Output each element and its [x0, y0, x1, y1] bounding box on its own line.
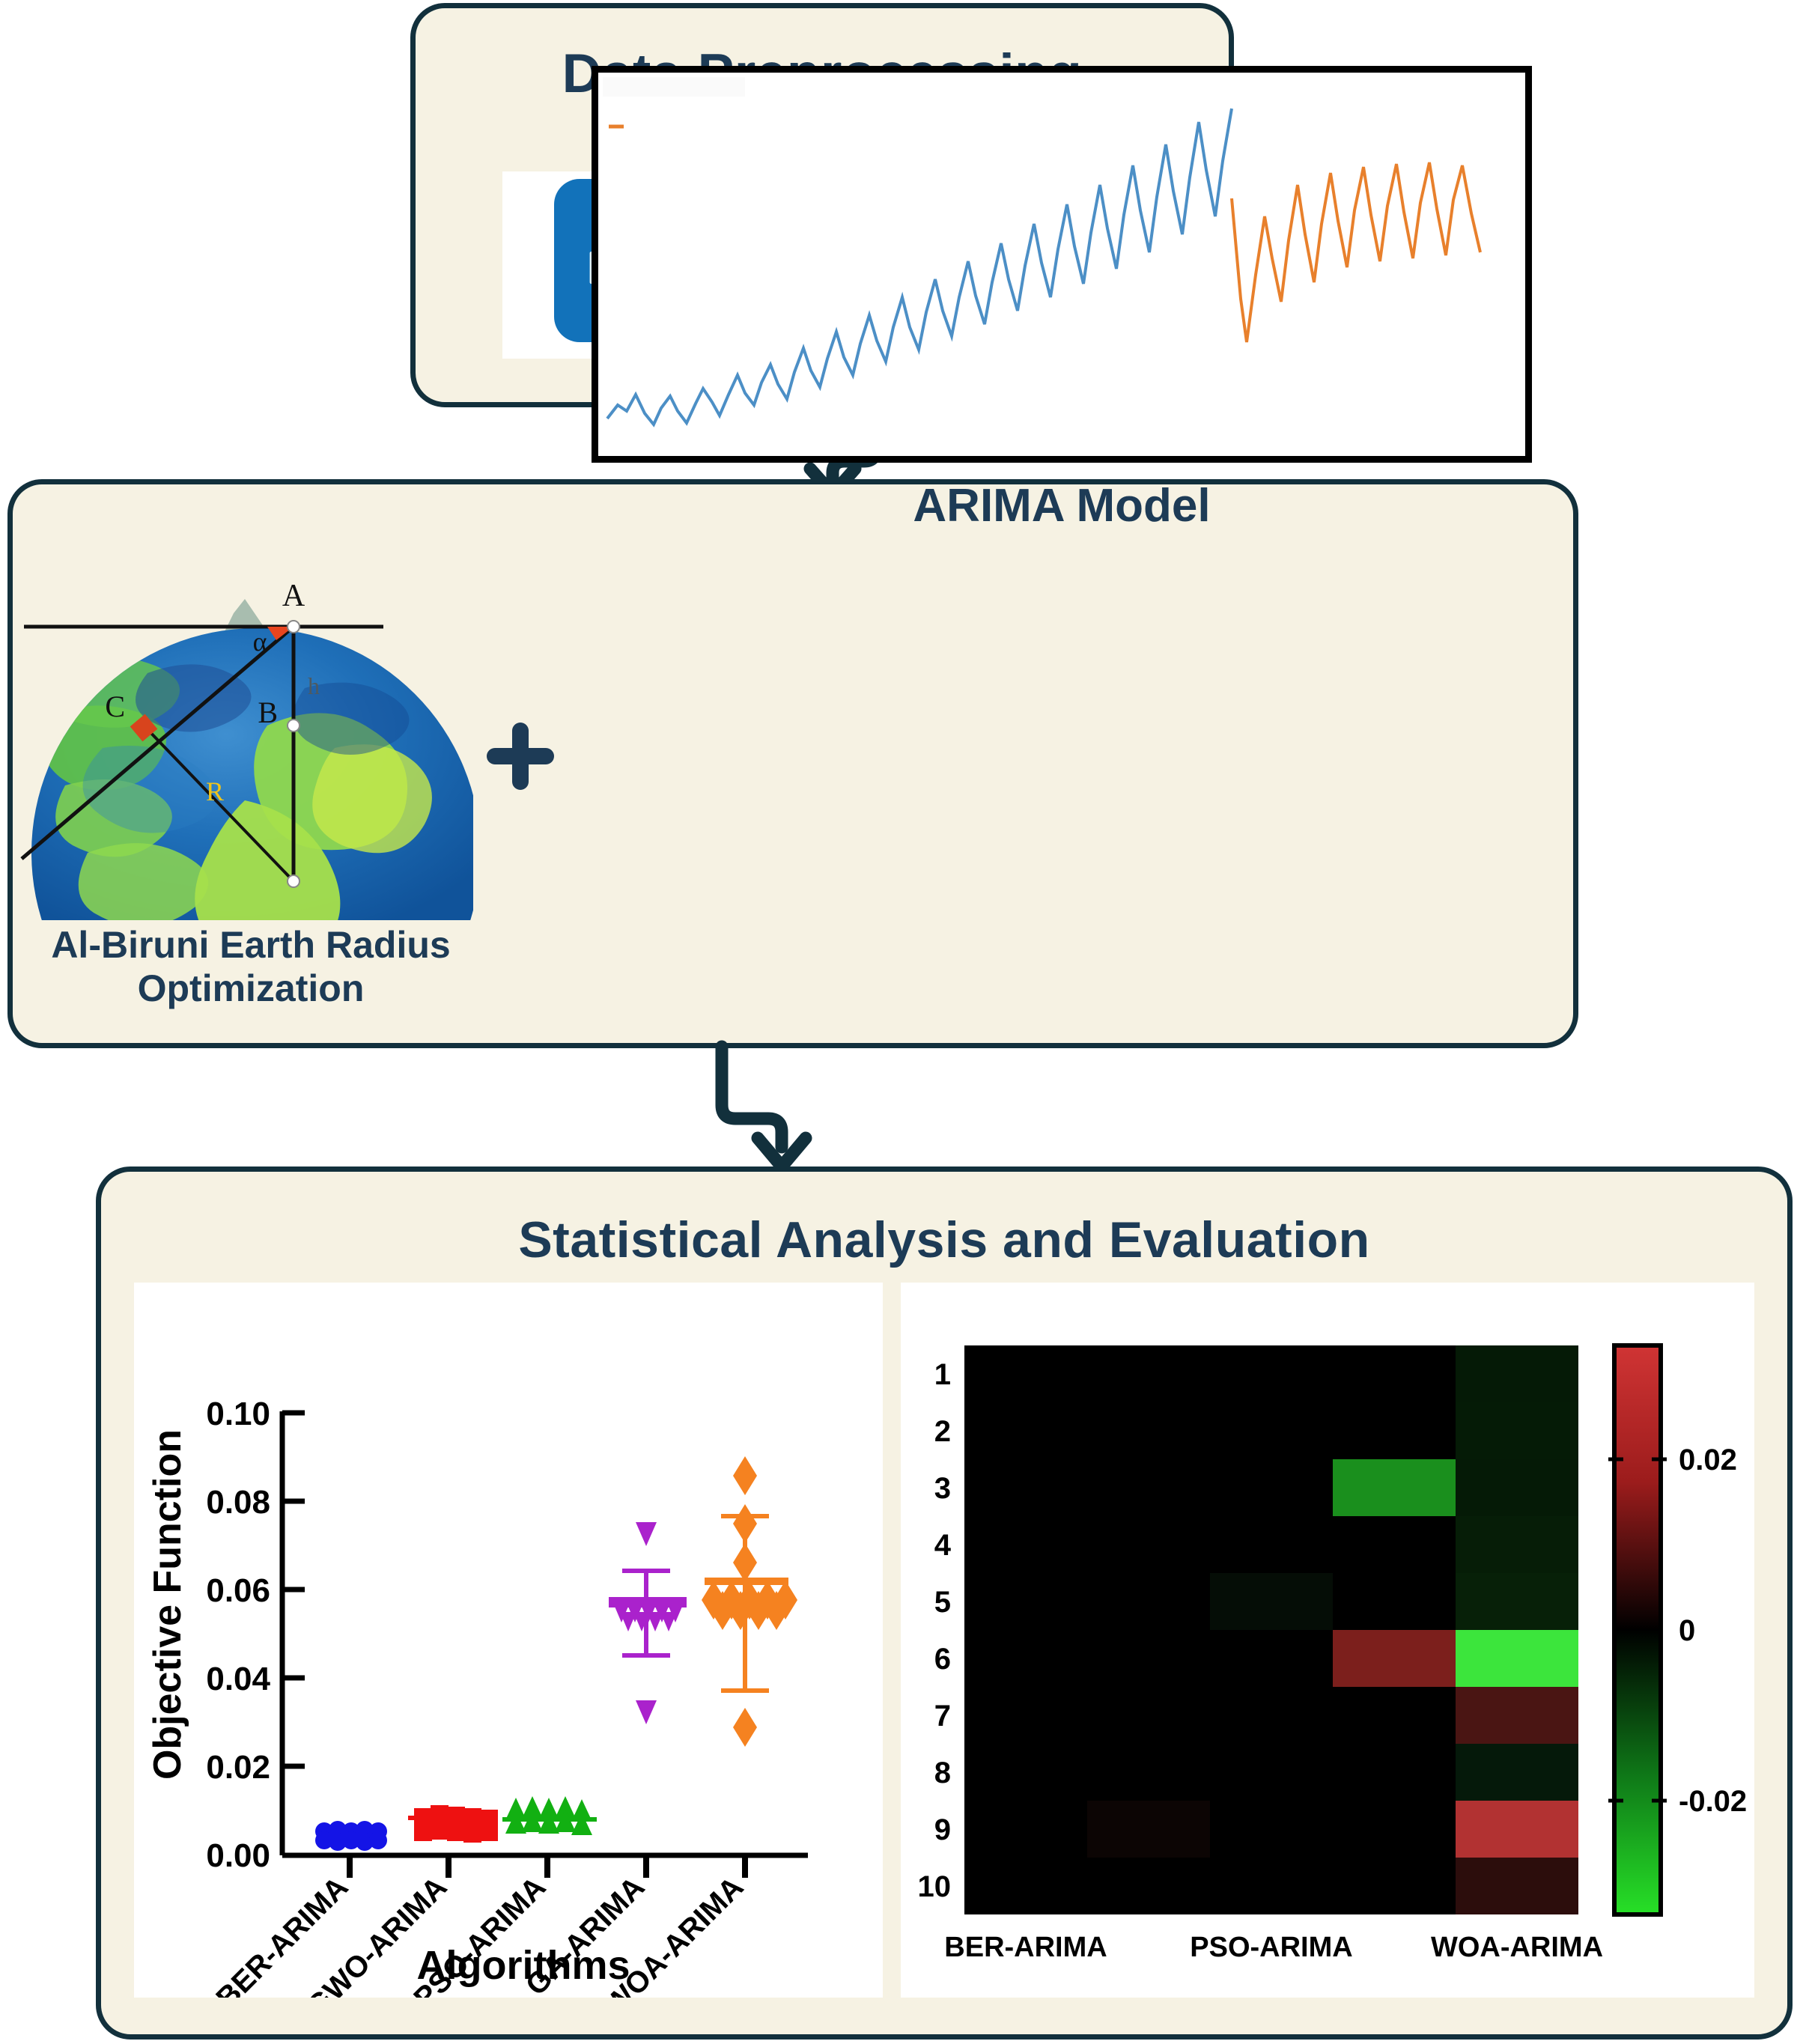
heatmap-rowlabel-4: 4 — [934, 1529, 952, 1562]
label-point-c: C — [105, 690, 125, 723]
scatter-ytick-0.04: 0.04 — [206, 1661, 270, 1697]
heatmap-rowlabel-6: 6 — [934, 1643, 951, 1676]
heatmap-rowlabel-3: 3 — [934, 1472, 951, 1505]
heatmap-rowlabel-9: 9 — [934, 1813, 951, 1846]
heatmap-rowlabel-5: 5 — [934, 1586, 951, 1619]
page-title-statistical-analysis: Statistical Analysis and Evaluation — [101, 1211, 1787, 1269]
colorbar-tick--0.02: -0.02 — [1679, 1785, 1747, 1818]
arima-line-chart — [598, 73, 1525, 456]
heatmap-collabel-ber-arima: BER-ARIMA — [944, 1932, 1107, 1963]
heatmap-cell-r5-c3 — [1210, 1573, 1333, 1630]
label-radius-r: R — [206, 776, 224, 806]
point-a-dot — [288, 621, 300, 633]
heatmap-collabel-woa-arima: WOA-ARIMA — [1431, 1932, 1603, 1963]
flowchart-page: Data Preprocessing — [0, 0, 1803, 2044]
center-dot — [288, 875, 300, 887]
heatmap-cell-r9-c5 — [1456, 1801, 1578, 1858]
residual-heatmap: 1 2 3 4 5 6 7 8 9 10 BER-ARIMA PSO — [901, 1283, 1754, 1998]
heatmap-cells — [964, 1345, 1578, 1914]
colorbar-tick-0.02: 0.02 — [1679, 1444, 1737, 1476]
caption-arima-model: ARIMA Model — [592, 479, 1532, 532]
scatter-series-pso-arima — [502, 1796, 597, 1835]
objective-function-scatter: Objective Function 0.10 0.08 0.06 0.04 0… — [134, 1283, 883, 1998]
panel-model-combination: A B C α h R Al-Biruni Earth Radius Optim… — [7, 479, 1578, 1048]
heatmap-collabel-pso-arima: PSO-ARIMA — [1190, 1932, 1352, 1963]
plus-operator-icon: + — [479, 715, 562, 801]
heatmap-cell-r3-c4 — [1333, 1459, 1456, 1516]
heatmap-cell-r7-c5 — [1456, 1687, 1578, 1744]
colorbar-tick-0: 0 — [1679, 1614, 1695, 1647]
heatmap-rowlabel-10: 10 — [918, 1870, 952, 1903]
heatmap-cell-r6-c5 — [1456, 1630, 1578, 1687]
heatmap-rowlabel-1: 1 — [934, 1358, 951, 1391]
heatmap-rowlabel-8: 8 — [934, 1756, 951, 1789]
heatmap-rowlabel-2: 2 — [934, 1415, 951, 1448]
label-point-a: A — [282, 579, 305, 613]
heatmap-rowlabel-7: 7 — [934, 1700, 951, 1733]
al-biruni-earth-diagram: A B C α h R — [20, 501, 477, 920]
label-angle-alpha: α — [253, 627, 267, 657]
heatmap-card: 1 2 3 4 5 6 7 8 9 10 BER-ARIMA PSO — [901, 1283, 1754, 1998]
point-b-dot — [288, 720, 300, 731]
heatmap-cell-r10-c5 — [1456, 1858, 1578, 1914]
scatter-series-gwo-arima — [408, 1805, 498, 1843]
caption-line-1: Al-Biruni Earth Radius — [26, 923, 475, 967]
caption-al-biruni: Al-Biruni Earth Radius Optimization — [26, 923, 475, 1010]
label-height-h: h — [308, 672, 320, 699]
scatter-ytick-0.02: 0.02 — [206, 1749, 270, 1786]
scatter-y-axis-title: Objective Function — [146, 1429, 189, 1780]
arrow-model-to-stats — [696, 1047, 861, 1181]
heatmap-cell-r6-c4 — [1333, 1630, 1456, 1687]
caption-line-2: Optimization — [26, 967, 475, 1010]
scatter-ytick-0.08: 0.08 — [206, 1484, 270, 1521]
scatter-plot-card: Objective Function 0.10 0.08 0.06 0.04 0… — [134, 1283, 883, 1998]
heatmap-cell-r9-c2 — [1087, 1801, 1210, 1858]
scatter-ytick-0.00: 0.00 — [206, 1837, 270, 1874]
panel-statistical-analysis: Statistical Analysis and Evaluation Obje… — [96, 1167, 1793, 2040]
scatter-ytick-0.10: 0.10 — [206, 1396, 270, 1432]
scatter-x-axis-title: Algorithms — [416, 1943, 630, 1988]
label-point-b: B — [258, 696, 278, 729]
scatter-ytick-0.06: 0.06 — [206, 1572, 270, 1609]
scatter-series-ber-arima — [315, 1821, 387, 1851]
heatmap-cell-r8-c5 — [1456, 1744, 1578, 1801]
arima-chart-frame — [592, 66, 1532, 463]
